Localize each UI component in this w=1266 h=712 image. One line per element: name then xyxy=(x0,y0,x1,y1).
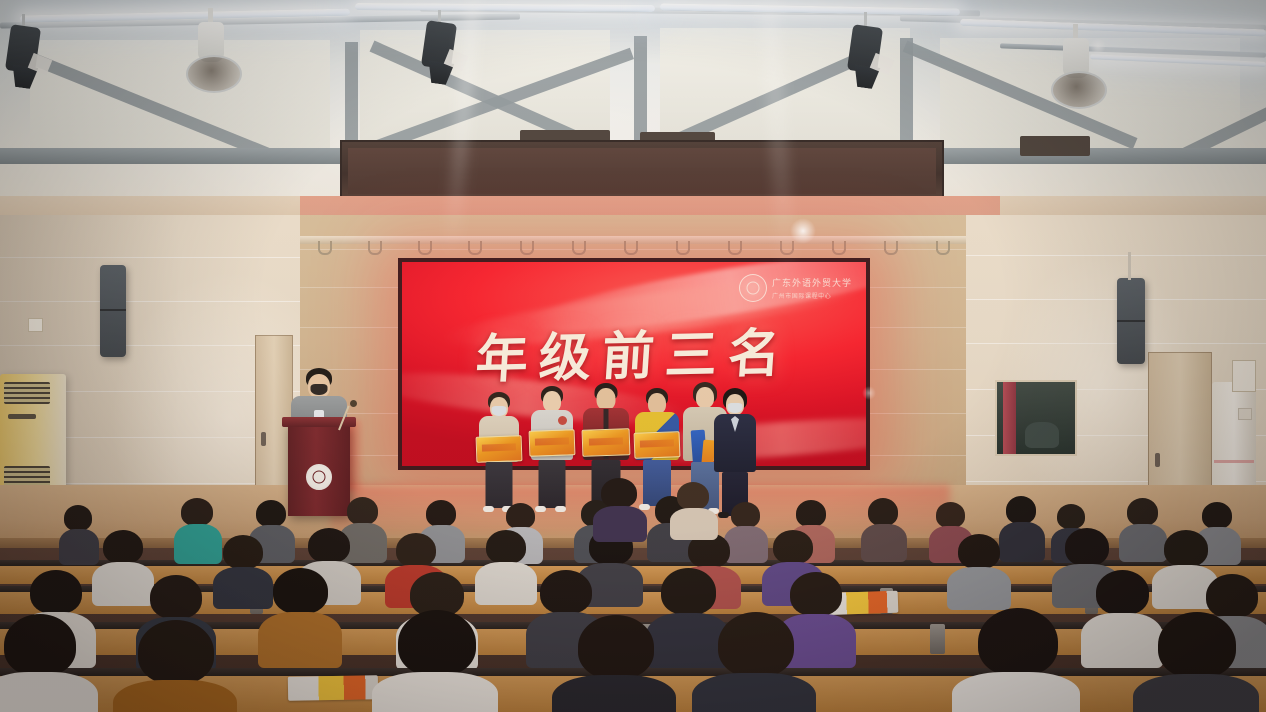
curtain-hook xyxy=(936,241,950,255)
audience-person xyxy=(120,620,230,712)
speaker-cable xyxy=(1128,252,1131,280)
awardee-2 xyxy=(528,386,576,520)
curtain-hook xyxy=(676,241,690,255)
curtain-hook xyxy=(468,241,482,255)
curtain-hook xyxy=(832,241,846,255)
ceiling-truss-post xyxy=(345,42,358,154)
led-logo-names: 广东外语外贸大学 广州市国际课程中心 xyxy=(772,276,852,300)
audience-person xyxy=(700,612,808,712)
stage-valance-beam xyxy=(340,140,944,202)
curtain-hook xyxy=(728,241,742,255)
led-university-logo: 广东外语外贸大学 广州市国际课程中心 xyxy=(739,274,852,302)
curtain-hook xyxy=(520,241,534,255)
ceiling-panel xyxy=(30,40,330,160)
face-mask xyxy=(311,384,328,395)
ceiling-fan-cage xyxy=(186,55,242,93)
university-seal-icon xyxy=(306,464,332,490)
curtain-hook xyxy=(368,241,382,255)
stage-valance-inner xyxy=(348,148,936,194)
audience-person xyxy=(60,505,98,563)
podium-top xyxy=(282,417,356,427)
seat-armrest xyxy=(930,624,945,654)
audience-person-foreground xyxy=(672,482,716,538)
microphone-head xyxy=(350,400,357,407)
led-logo-line1: 广东外语外贸大学 xyxy=(772,276,852,289)
audience-person xyxy=(380,610,490,712)
curtain-hook xyxy=(780,241,794,255)
ceiling-fan-cage xyxy=(1051,71,1107,109)
audience-person xyxy=(478,530,534,602)
curtain-hook xyxy=(572,241,586,255)
curtain-hook xyxy=(884,241,898,255)
audience-person xyxy=(560,615,668,712)
audience-person xyxy=(960,608,1072,712)
auditorium-photo: 年级前三名 广东外语外贸大学 广州市国际课程中心 xyxy=(0,0,1266,712)
audience-person xyxy=(862,498,906,562)
wall-speaker xyxy=(100,265,126,357)
awardee-1 xyxy=(476,392,522,520)
audience-person-foreground xyxy=(595,478,645,540)
curtain-hook xyxy=(418,241,432,255)
audience-person xyxy=(1140,612,1252,712)
program-pamphlet[interactable] xyxy=(288,675,378,701)
led-headline-text: 年级前三名 xyxy=(402,309,866,394)
curtain-hook xyxy=(318,241,332,255)
audience-person xyxy=(262,568,338,666)
university-crest-icon xyxy=(739,274,767,302)
audience-person xyxy=(0,614,90,712)
projection-booth-window xyxy=(995,380,1077,456)
booth-curtain xyxy=(1003,382,1016,454)
audience-person xyxy=(950,534,1008,606)
booth-interior-shape xyxy=(1025,422,1059,448)
ceiling-truss-post xyxy=(900,38,913,154)
wall-switch-plate[interactable] xyxy=(28,318,43,332)
wall-notice-sign xyxy=(1232,360,1256,392)
wall-speaker xyxy=(1117,278,1145,364)
led-logo-line2: 广州市国际课程中心 xyxy=(772,291,852,300)
curtain-hook xyxy=(624,241,638,255)
ceiling-equipment-box xyxy=(1020,136,1090,156)
